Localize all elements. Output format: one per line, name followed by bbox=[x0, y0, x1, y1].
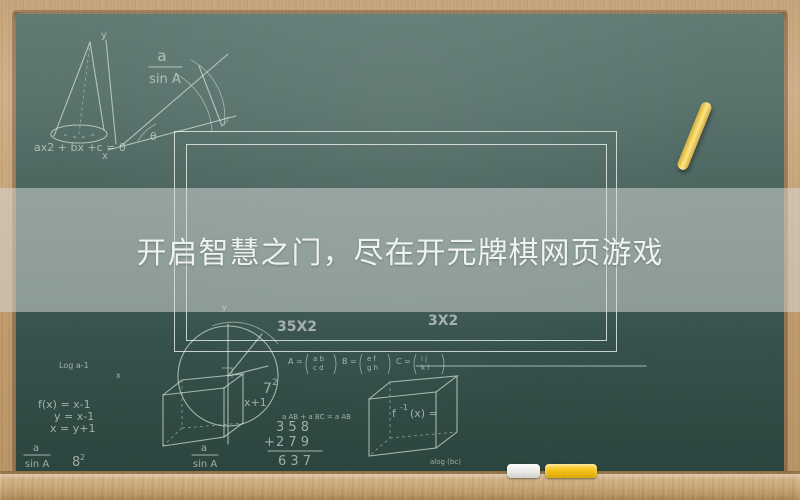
svg-text:6 3 7: 6 3 7 bbox=[278, 454, 311, 469]
svg-text:x+1: x+1 bbox=[244, 396, 267, 409]
svg-text:sin A: sin A bbox=[149, 72, 181, 87]
svg-text:x = y+1: x = y+1 bbox=[50, 422, 95, 435]
svg-text:a: a bbox=[33, 443, 39, 454]
set-note: a AB + a BC = a AB bbox=[282, 413, 351, 421]
svg-text:i j: i j bbox=[421, 355, 427, 363]
svg-text:f(x) = x-1: f(x) = x-1 bbox=[38, 398, 91, 411]
svg-text:a: a bbox=[157, 47, 166, 65]
yellow-chalk-icon bbox=[545, 464, 597, 478]
svg-text:(x) =: (x) = bbox=[410, 407, 438, 420]
svg-text:-1: -1 bbox=[400, 403, 408, 412]
inverse-function-note: f -1 (x) = bbox=[392, 403, 438, 420]
svg-text:e f: e f bbox=[367, 355, 377, 363]
svg-text:θ: θ bbox=[150, 130, 157, 143]
svg-text:B =: B = bbox=[342, 357, 357, 366]
svg-text:x: x bbox=[116, 371, 121, 380]
svg-text:sin A: sin A bbox=[25, 459, 50, 470]
log-note: Log a-1 bbox=[59, 361, 89, 370]
svg-text:sin A: sin A bbox=[193, 459, 218, 470]
svg-text:7: 7 bbox=[263, 381, 272, 397]
cone-drawing bbox=[51, 42, 107, 143]
svg-text:C =: C = bbox=[396, 357, 411, 366]
svg-text:2 7 9: 2 7 9 bbox=[276, 435, 309, 450]
svg-text:c d: c d bbox=[313, 364, 324, 372]
quadratic-equation: ax2 + bx +c = 0 bbox=[34, 141, 126, 154]
cube-drawing-right bbox=[369, 376, 457, 456]
svg-text:A =: A = bbox=[288, 357, 303, 366]
svg-text:a: a bbox=[201, 443, 207, 454]
svg-text:2: 2 bbox=[80, 453, 85, 462]
svg-text:y = x-1: y = x-1 bbox=[54, 410, 94, 423]
svg-text:a b: a b bbox=[313, 355, 325, 363]
svg-text:x: x bbox=[102, 151, 108, 162]
svg-text:2: 2 bbox=[272, 378, 278, 388]
seven-squared: 7 2 bbox=[263, 378, 278, 397]
svg-text:y: y bbox=[101, 30, 107, 41]
vertical-addition: 3 5 8 + 2 7 9 6 3 7 x+1 bbox=[244, 396, 322, 469]
svg-text:8: 8 bbox=[72, 455, 80, 470]
function-equations: f(x) = x-1 y = x-1 x = y+1 bbox=[38, 398, 95, 435]
chalk-tray bbox=[0, 474, 800, 500]
fraction-a-sin-a-top: a sin A bbox=[149, 47, 182, 87]
chalkboard-banner: a sin A ax2 + bx +c = 0 y x θ bbox=[0, 0, 800, 500]
floating-yellow-chalk-icon bbox=[676, 101, 713, 172]
svg-text:g h: g h bbox=[367, 364, 378, 372]
eight-squared: 8 2 bbox=[72, 453, 85, 470]
fraction-a-sin-a-bottom-left: a sin A bbox=[24, 443, 50, 470]
caption-band: 开启智慧之门，尽在开元牌棋网页游戏 bbox=[0, 188, 800, 312]
headline-text: 开启智慧之门，尽在开元牌棋网页游戏 bbox=[137, 228, 664, 272]
alog-note: alog (bc) bbox=[430, 458, 461, 466]
svg-text:f: f bbox=[392, 407, 397, 420]
matrix-notation: A = a b c d B = e f g h C = i j k l bbox=[288, 354, 444, 374]
svg-text:3 5 8: 3 5 8 bbox=[276, 420, 309, 435]
fraction-a-sin-a-bottom-center: a sin A bbox=[192, 443, 218, 470]
white-chalk-icon bbox=[507, 464, 540, 478]
svg-text:k l: k l bbox=[421, 364, 429, 372]
cube-drawing-left bbox=[163, 374, 243, 446]
svg-text:+: + bbox=[264, 435, 275, 450]
